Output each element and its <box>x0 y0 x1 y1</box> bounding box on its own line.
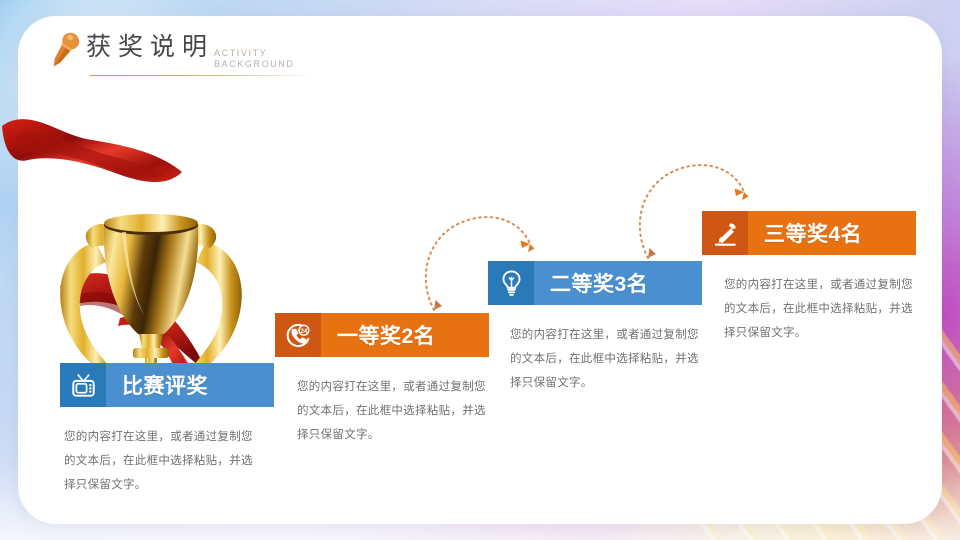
card-title: 二等奖3名 <box>550 268 648 298</box>
award-card-4[interactable]: 三等奖4名 您的内容打在这里，或者通过复制您的文本后，在此框中选择粘贴，并选择只… <box>702 211 924 345</box>
card-title: 比赛评奖 <box>122 370 208 400</box>
page-title: 获奖说明 <box>86 27 214 63</box>
lightbulb-icon <box>488 261 534 305</box>
card-header-bar: 24 一等奖2名 <box>275 313 489 357</box>
slide-header: 获奖说明 ACTIVITY BACKGROUND <box>42 22 362 88</box>
page-subtitle: ACTIVITY BACKGROUND <box>214 48 295 70</box>
card-title-box: 一等奖2名 <box>321 313 489 357</box>
card-title: 三等奖4名 <box>764 218 862 248</box>
card-header-bar: 三等奖4名 <box>702 211 916 255</box>
title-underline <box>90 75 315 76</box>
award-card-1[interactable]: 比赛评奖 您的内容打在这里，或者通过复制您的文本后，在此框中选择粘贴，并选择只保… <box>60 363 274 497</box>
card-header-bar: 比赛评奖 <box>60 363 274 407</box>
card-body-text: 您的内容打在这里，或者通过复制您的文本后，在此框中选择粘贴，并选择只保留文字。 <box>297 375 497 447</box>
fountain-pen-icon <box>702 211 748 255</box>
card-body-text: 您的内容打在这里，或者通过复制您的文本后，在此框中选择粘贴，并选择只保留文字。 <box>724 273 924 345</box>
svg-text:24: 24 <box>300 327 307 334</box>
award-card-2[interactable]: 24 一等奖2名 您的内容打在这里，或者通过复制您的文本后，在此框中选择粘贴，并… <box>275 313 497 447</box>
card-title-box: 比赛评奖 <box>106 363 274 407</box>
trophy-image <box>0 96 300 406</box>
microphone-icon <box>42 28 86 74</box>
card-title-box: 三等奖4名 <box>748 211 916 255</box>
page-subtitle-line2: BACKGROUND <box>214 59 295 70</box>
card-body-text: 您的内容打在这里，或者通过复制您的文本后，在此框中选择粘贴，并选择只保留文字。 <box>510 323 710 395</box>
page-subtitle-line1: ACTIVITY <box>214 48 295 59</box>
card-header-bar: 二等奖3名 <box>488 261 702 305</box>
card-title: 一等奖2名 <box>337 320 435 350</box>
phone-24h-support-icon: 24 <box>275 313 321 357</box>
slide-canvas: 获奖说明 ACTIVITY BACKGROUND <box>0 0 960 540</box>
award-card-3[interactable]: 二等奖3名 您的内容打在这里，或者通过复制您的文本后，在此框中选择粘贴，并选择只… <box>488 261 710 395</box>
card-title-box: 二等奖3名 <box>534 261 702 305</box>
card-body-text: 您的内容打在这里，或者通过复制您的文本后，在此框中选择粘贴，并选择只保留文字。 <box>64 425 264 497</box>
television-icon <box>60 363 106 407</box>
